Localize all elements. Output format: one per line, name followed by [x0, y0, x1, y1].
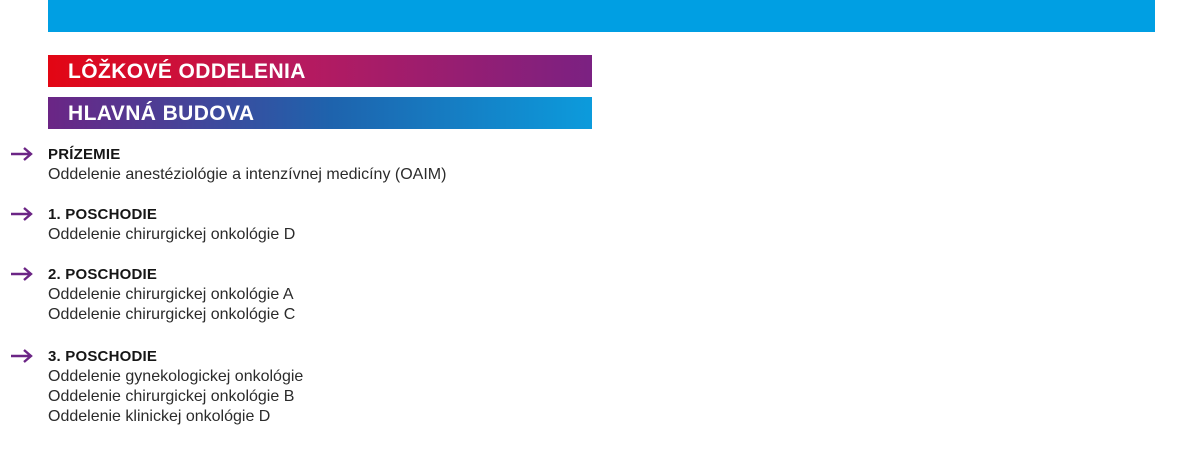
top-accent-bar: [48, 0, 1155, 32]
floor-group-2-poschodie: 2. POSCHODIE Oddelenie chirurgickej onko…: [10, 265, 295, 325]
arrow-right-icon: [10, 348, 36, 364]
banner-hlavna-budova: HLAVNÁ BUDOVA: [48, 97, 592, 129]
floor-header: 2. POSCHODIE: [10, 265, 295, 285]
floor-header: 3. POSCHODIE: [10, 347, 303, 367]
banner-lozkove-oddelenia: LÔŽKOVÉ ODDELENIA: [48, 55, 592, 87]
floor-group-3-poschodie: 3. POSCHODIE Oddelenie gynekologickej on…: [10, 347, 303, 427]
list-item: Oddelenie chirurgickej onkológie B: [48, 387, 303, 407]
list-item: Oddelenie chirurgickej onkológie A: [48, 285, 295, 305]
floor-header: PRÍZEMIE: [10, 145, 446, 165]
banner-lozkove-oddelenia-label: LÔŽKOVÉ ODDELENIA: [68, 61, 306, 82]
list-item: Oddelenie gynekologickej onkológie: [48, 367, 303, 387]
floor-title: 3. POSCHODIE: [48, 347, 303, 366]
floor-title: 1. POSCHODIE: [48, 205, 295, 224]
floor-title: PRÍZEMIE: [48, 145, 446, 164]
arrow-right-icon: [10, 206, 36, 222]
floor-group-1-poschodie: 1. POSCHODIE Oddelenie chirurgickej onko…: [10, 205, 295, 245]
arrow-right-icon: [10, 266, 36, 282]
floor-title: 2. POSCHODIE: [48, 265, 295, 284]
banner-hlavna-budova-label: HLAVNÁ BUDOVA: [68, 103, 254, 124]
department-list: Oddelenie chirurgickej onkológie D: [48, 225, 295, 245]
list-item: Oddelenie klinickej onkológie D: [48, 407, 303, 427]
list-item: Oddelenie chirurgickej onkológie D: [48, 225, 295, 245]
department-list: Oddelenie chirurgickej onkológie A Oddel…: [48, 285, 295, 325]
list-item: Oddelenie anestéziológie a intenzívnej m…: [48, 165, 446, 185]
department-list: Oddelenie gynekologickej onkológie Oddel…: [48, 367, 303, 427]
list-item: Oddelenie chirurgickej onkológie C: [48, 305, 295, 325]
department-list: Oddelenie anestéziológie a intenzívnej m…: [48, 165, 446, 185]
floor-group-prizemie: PRÍZEMIE Oddelenie anestéziológie a inte…: [10, 145, 446, 185]
arrow-right-icon: [10, 146, 36, 162]
floor-header: 1. POSCHODIE: [10, 205, 295, 225]
